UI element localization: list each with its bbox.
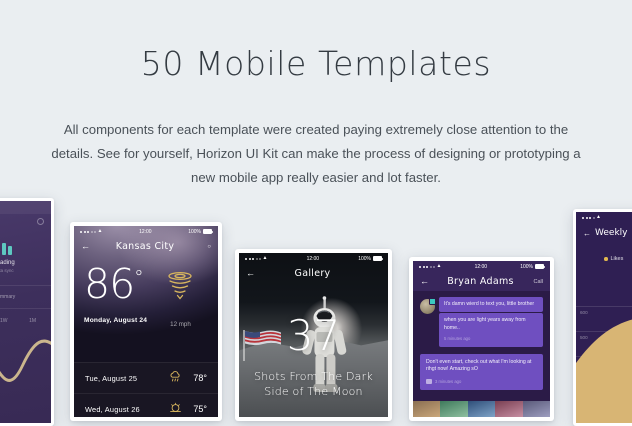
analytics-summary-row: Last 30 days summary <box>0 285 51 309</box>
gallery-nav-title: Gallery <box>258 268 367 279</box>
forecast-temp: 75° <box>185 404 207 414</box>
gallery-battery-label: 100% <box>358 256 371 262</box>
photo-thumb[interactable] <box>468 401 495 417</box>
chat-bubble-text: It's damn wierd to text you, little brot… <box>444 301 534 307</box>
chat-bubble-text: Don't even start, check out what I'm loo… <box>426 359 532 373</box>
stats-legend-label: Likes <box>611 256 624 262</box>
analytics-wave-chart <box>0 313 51 423</box>
bar-chart-icon <box>0 241 17 255</box>
wifi-icon: ▲ <box>263 256 268 261</box>
weather-status-time: 12:00 <box>139 229 152 235</box>
sun-cloud-icon <box>165 400 185 417</box>
stats-nav-title: Weekly <box>595 228 627 238</box>
phone-mockup-analytics[interactable]: Loading data sync Last 30 days summary 1… <box>0 198 54 426</box>
chat-bubble-outgoing[interactable]: Don't even start, check out what I'm loo… <box>420 354 543 391</box>
chat-bubble-time: 5 minutes ago <box>444 335 538 342</box>
weather-screen: ▲ 12:00 100% ← Kansas City ○ 86° Monday,… <box>74 226 218 417</box>
weather-date: Monday, August 24 <box>84 317 153 324</box>
signal-icons: ▲ <box>419 264 441 269</box>
chat-message-list: It's damn wierd to text you, little brot… <box>413 291 550 390</box>
menu-icon[interactable] <box>37 218 44 225</box>
wifi-icon: ▲ <box>596 215 601 220</box>
stats-statusbar: ▲ <box>576 212 632 223</box>
chat-bubble-meta: 3 minutes ago <box>426 378 537 386</box>
settings-icon[interactable]: ○ <box>197 244 211 250</box>
gallery-screen: ▲ 12:00 100% ← Gallery 37 Shots From The… <box>239 253 388 417</box>
forecast-row[interactable]: Wed, August 26 75° <box>74 393 218 417</box>
page-title: 50 Mobile Templates <box>0 44 632 83</box>
weather-current: 86° Monday, August 24 12 <box>74 264 218 328</box>
chat-photo-strip[interactable] <box>413 401 550 417</box>
battery-group: 100% <box>188 229 212 235</box>
chat-statusbar: ▲ 12:00 100% <box>413 261 550 272</box>
chat-status-time: 12:00 <box>475 264 488 270</box>
battery-icon <box>203 229 212 234</box>
phone-mockup-stats[interactable]: ▲ ← Weekly Likes 600 500 400 300 200 <box>573 209 632 426</box>
page-subtitle: All components for each template were cr… <box>50 118 582 190</box>
signal-icons: ▲ <box>245 256 267 261</box>
gallery-status-time: 12:00 <box>307 256 320 262</box>
weather-temp-value: 86 <box>84 260 134 308</box>
weather-navbar: ← Kansas City ○ <box>74 237 218 256</box>
phone-mockup-gallery[interactable]: ▲ 12:00 100% ← Gallery 37 Shots From The… <box>235 249 392 421</box>
phone-mockup-weather[interactable]: ▲ 12:00 100% ← Kansas City ○ 86° Monday,… <box>70 222 222 421</box>
stats-legend: Likes <box>576 238 632 262</box>
avatar <box>420 299 435 314</box>
forecast-row[interactable]: Tue, August 25 78° <box>74 362 218 393</box>
legend-dot-icon <box>604 257 608 261</box>
chat-screen: ▲ 12:00 100% ← Bryan Adams Call It's dam… <box>413 261 550 417</box>
weather-degree-symbol: ° <box>134 266 143 288</box>
weather-wind: 12 mph <box>153 321 208 328</box>
attachment-icon <box>426 379 432 384</box>
call-button[interactable]: Call <box>529 279 543 285</box>
back-icon[interactable]: ← <box>246 269 258 278</box>
chat-bubble-time: 3 minutes ago <box>435 378 461 386</box>
analytics-label: Loading <box>0 260 51 266</box>
analytics-navbar[interactable] <box>0 214 51 225</box>
weather-temperature: 86° <box>84 264 153 304</box>
gallery-navbar: ← Gallery <box>239 264 388 283</box>
gallery-statusbar: ▲ 12:00 100% <box>239 253 388 264</box>
chat-nav-title: Bryan Adams <box>432 276 529 287</box>
analytics-screen: Loading data sync Last 30 days summary 1… <box>0 201 51 423</box>
photo-thumb[interactable] <box>440 401 467 417</box>
stats-area-chart <box>576 311 632 423</box>
weather-hero: ▲ 12:00 100% ← Kansas City ○ 86° Monday,… <box>74 226 218 362</box>
chat-bubble-text: when you are light years away from home.… <box>444 317 526 330</box>
gallery-caption: Shots From The Dark Side of The Moon <box>247 369 380 399</box>
stats-screen: ▲ ← Weekly Likes 600 500 400 300 200 <box>576 212 632 423</box>
back-icon[interactable]: ← <box>420 277 432 286</box>
signal-icons: ▲ <box>80 229 102 234</box>
storm-icon <box>165 369 185 387</box>
chat-bubble-incoming[interactable]: It's damn wierd to text you, little brot… <box>439 297 543 312</box>
chat-battery-label: 100% <box>520 264 533 270</box>
analytics-sublabel: data sync <box>0 268 51 273</box>
wifi-icon: ▲ <box>98 229 103 234</box>
gallery-photo-count: 37 <box>239 315 388 357</box>
wifi-icon: ▲ <box>437 264 442 269</box>
stats-navbar: ← Weekly <box>576 223 632 238</box>
forecast-day: Wed, August 26 <box>85 405 165 414</box>
photo-thumb[interactable] <box>523 401 550 417</box>
back-icon[interactable]: ← <box>81 242 93 251</box>
chat-navbar: ← Bryan Adams Call <box>413 272 550 291</box>
forecast-temp: 78° <box>185 373 207 383</box>
analytics-statusbar <box>0 201 51 214</box>
battery-icon <box>535 264 544 269</box>
weather-battery-label: 100% <box>188 229 201 235</box>
weather-statusbar: ▲ 12:00 100% <box>74 226 218 237</box>
battery-group: 100% <box>358 256 382 262</box>
signal-icons: ▲ <box>582 215 601 220</box>
forecast-day: Tue, August 25 <box>85 374 165 383</box>
tornado-icon <box>161 267 199 305</box>
incoming-message-group: It's damn wierd to text you, little brot… <box>420 297 543 347</box>
back-icon[interactable]: ← <box>583 229 595 238</box>
phone-mockup-chat[interactable]: ▲ 12:00 100% ← Bryan Adams Call It's dam… <box>409 257 554 421</box>
battery-group: 100% <box>520 264 544 270</box>
photo-thumb[interactable] <box>413 401 440 417</box>
weather-nav-title: Kansas City <box>93 241 197 252</box>
chat-bubble-incoming[interactable]: when you are light years away from home.… <box>439 313 543 346</box>
photo-thumb[interactable] <box>495 401 522 417</box>
battery-icon <box>373 256 382 261</box>
